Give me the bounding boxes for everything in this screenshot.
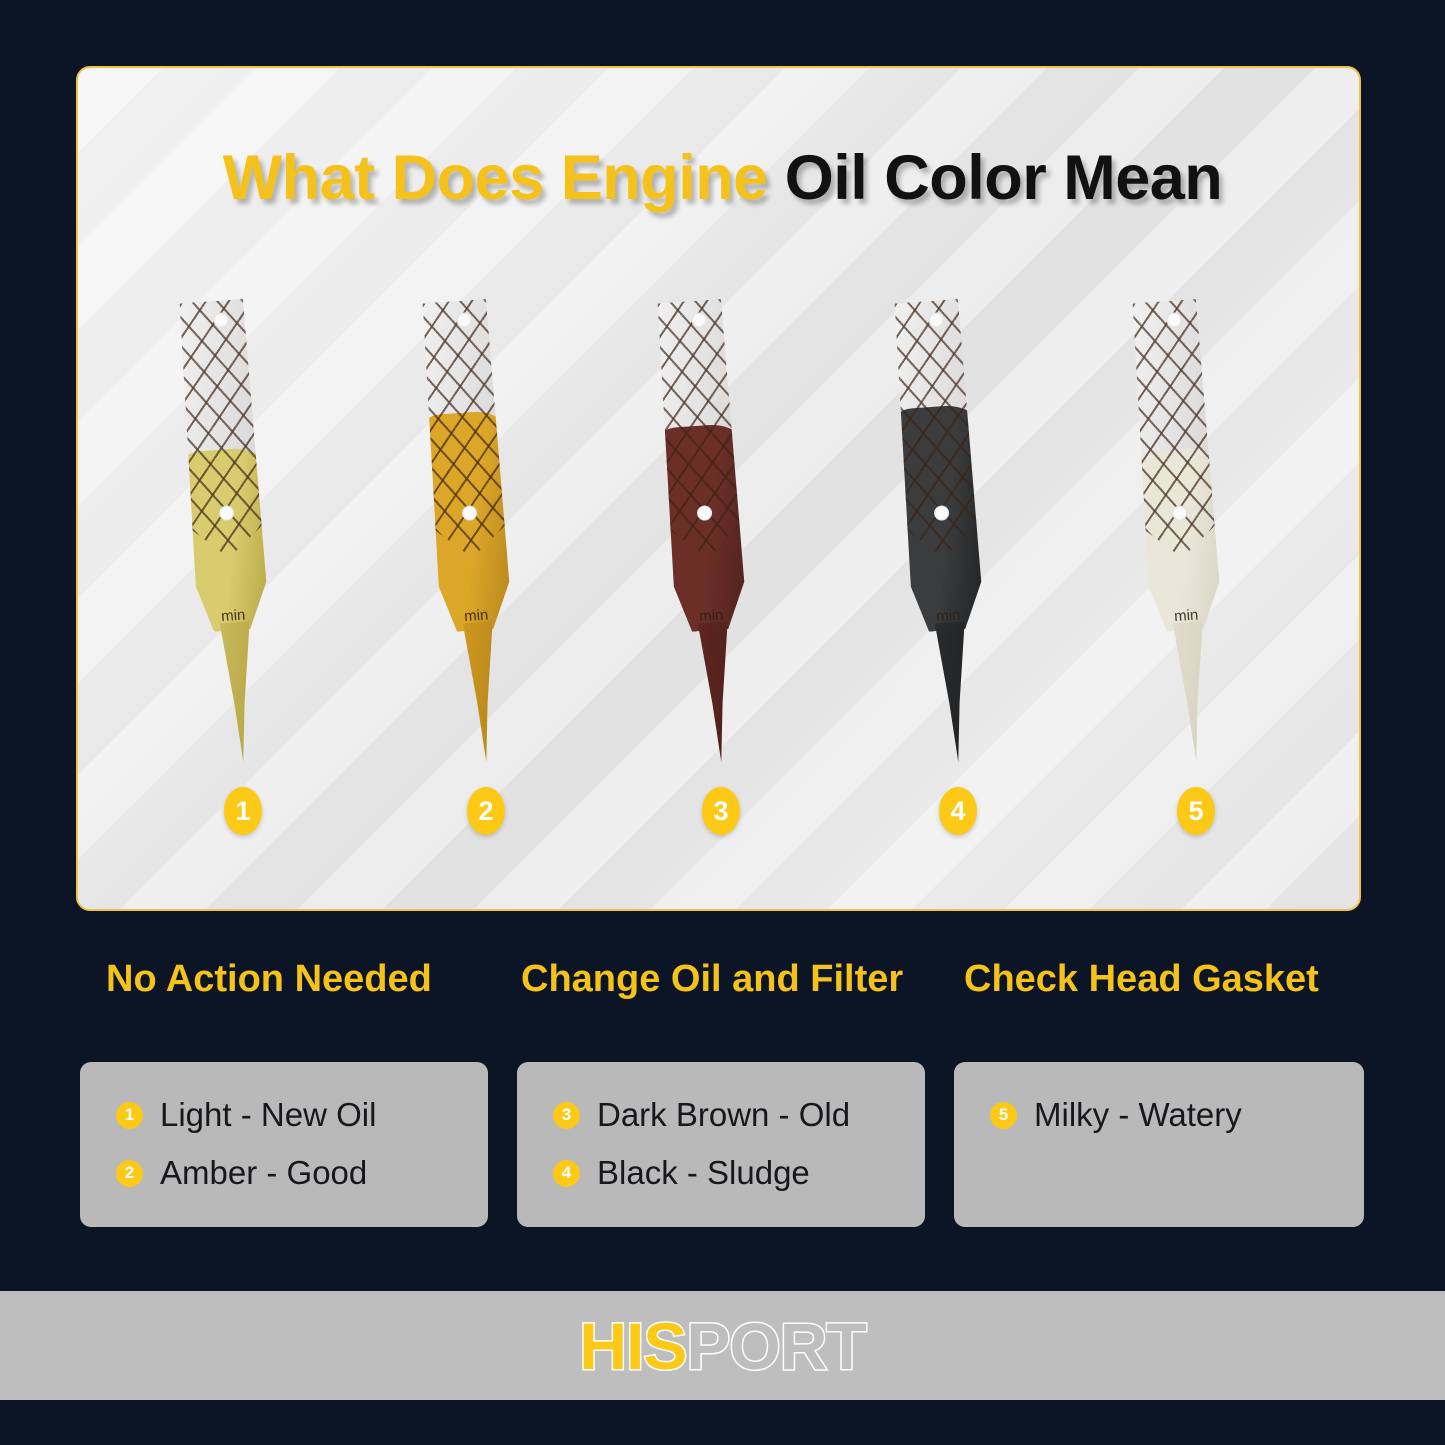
footer-bar: HISPORT [0, 1291, 1445, 1400]
dipstick-number-badges: 12345 [0, 787, 1445, 847]
dipstick-blade: min [418, 299, 513, 633]
dipstick-crosshatch-pattern [1128, 299, 1218, 561]
legend-card-3: 5Milky - Watery [954, 1062, 1364, 1227]
legend-number-badge-4: 4 [553, 1160, 580, 1187]
dipstick-hole-mid [933, 505, 949, 521]
number-badge-4: 4 [939, 787, 977, 835]
legend-item: 1Light - New Oil [116, 1096, 488, 1134]
dipstick-hole-mid [696, 505, 712, 521]
dipstick-body: min [175, 299, 279, 758]
number-badge-5: 5 [1177, 787, 1215, 835]
dipstick-1: min [168, 300, 318, 760]
legend-item-label: Dark Brown - Old [597, 1096, 850, 1134]
dipstick-hole-mid [218, 505, 234, 521]
dipstick-hole-mid [1171, 505, 1187, 521]
dipstick-5: min [1121, 300, 1271, 760]
legend-number-badge-3: 3 [553, 1102, 580, 1129]
page-title: What Does Engine Oil Color Mean [0, 142, 1445, 214]
dipstick-tip [1173, 621, 1213, 763]
dipstick-blade: min [653, 299, 748, 633]
dipstick-tip [463, 621, 503, 763]
title-highlight: What Does Engine [223, 143, 768, 213]
dipstick-crosshatch-pattern [890, 299, 980, 561]
legend-item: 5Milky - Watery [990, 1096, 1364, 1134]
legend-number-badge-5: 5 [990, 1102, 1017, 1129]
legend-item: 2Amber - Good [116, 1154, 488, 1192]
dipstick-2: min [411, 300, 561, 760]
section-headings: No Action NeededChange Oil and FilterChe… [0, 958, 1445, 1008]
dipstick-crosshatch-pattern [175, 299, 265, 561]
legend-item: 4Black - Sludge [553, 1154, 925, 1192]
dipstick-tip [698, 621, 738, 763]
legend-item-label: Black - Sludge [597, 1154, 810, 1192]
section-heading-2: Change Oil and Filter [521, 958, 903, 1001]
legend-item-label: Amber - Good [160, 1154, 367, 1192]
logo-his: HIS [579, 1313, 686, 1379]
logo-port: PORT [686, 1313, 865, 1379]
dipstick-4: min [883, 300, 1033, 760]
dipstick-3: min [646, 300, 796, 760]
legend-number-badge-2: 2 [116, 1160, 143, 1187]
dipstick-body: min [1128, 299, 1232, 758]
dipstick-crosshatch-pattern [653, 299, 743, 561]
dipstick-blade: min [1128, 299, 1223, 633]
dipstick-body: min [653, 299, 757, 758]
legend-number-badge-1: 1 [116, 1102, 143, 1129]
hisport-logo: HISPORT [579, 1313, 865, 1379]
number-badge-1: 1 [224, 787, 262, 835]
legend-item-label: Milky - Watery [1034, 1096, 1242, 1134]
dipstick-blade: min [175, 299, 270, 633]
number-badge-3: 3 [702, 787, 740, 835]
legend-item-label: Light - New Oil [160, 1096, 376, 1134]
dipstick-tip [220, 621, 260, 763]
dipstick-body: min [418, 299, 522, 758]
dipstick-body: min [890, 299, 994, 758]
dipstick-crosshatch-pattern [418, 299, 508, 561]
section-heading-3: Check Head Gasket [964, 958, 1319, 1001]
dipstick-row: minminminminmin [0, 300, 1445, 760]
legend-item: 3Dark Brown - Old [553, 1096, 925, 1134]
legend-card-1: 1Light - New Oil2Amber - Good [80, 1062, 488, 1227]
title-rest: Oil Color Mean [785, 143, 1223, 213]
dipstick-tip [935, 621, 975, 763]
dipstick-blade: min [890, 299, 985, 633]
number-badge-2: 2 [467, 787, 505, 835]
legend-cards: 1Light - New Oil2Amber - Good3Dark Brown… [0, 1062, 1445, 1227]
dipstick-hole-mid [461, 505, 477, 521]
section-heading-1: No Action Needed [106, 958, 432, 1001]
legend-card-2: 3Dark Brown - Old4Black - Sludge [517, 1062, 925, 1227]
